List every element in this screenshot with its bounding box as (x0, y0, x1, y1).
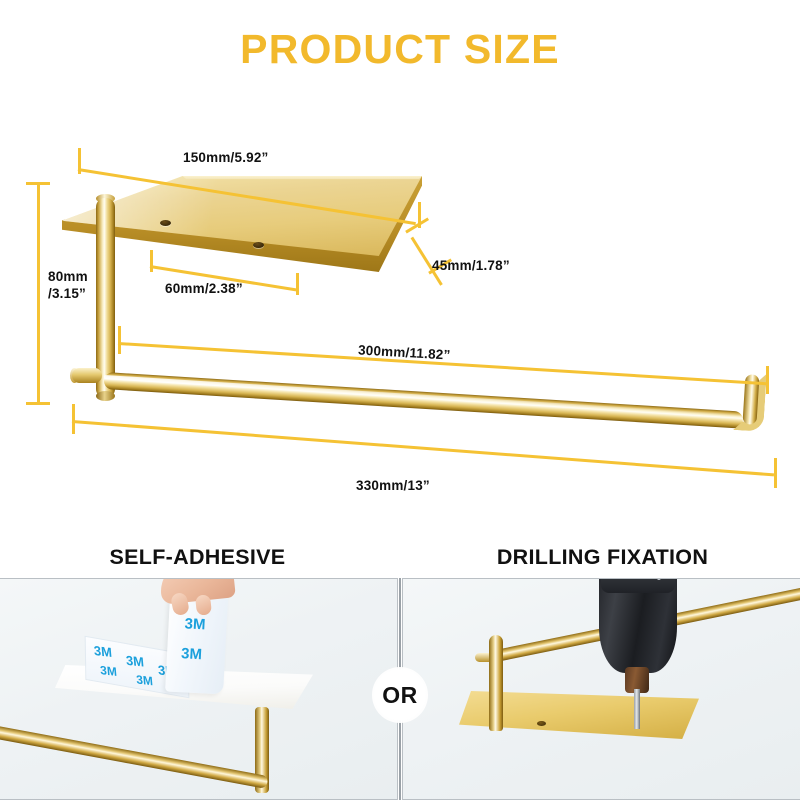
tape-3m-logo: 3M (184, 616, 206, 632)
drill-bit (634, 689, 640, 729)
screw-hole-icon (160, 220, 171, 226)
drilling-fixation-heading: DRILLING FIXATION (405, 545, 800, 570)
product-size-diagram: 150mm/5.92” 45mm/1.78” 60mm/2.38” 80mm /… (0, 0, 800, 530)
self-adhesive-heading: SELF-ADHESIVE (0, 545, 395, 570)
tape-3m-logo: 3M (100, 664, 118, 678)
or-badge: OR (372, 667, 428, 723)
vertical-post (489, 635, 503, 731)
drill-clutch-collar: 1 2 3 (601, 578, 675, 593)
post-bottom-cap (96, 391, 115, 401)
dimension-label-post-height-mm: 80mm (48, 269, 88, 284)
dimension-label-hole-spacing: 60mm/2.38” (165, 281, 243, 296)
drilling-fixation-photo: 1 2 3 (402, 578, 800, 800)
screw-hole-icon (537, 721, 546, 726)
self-adhesive-photo: 3M 3M 3M 3M 3M 3M 3M 3M (0, 578, 398, 800)
tape-3m-logo: 3M (136, 673, 154, 687)
dimension-label-post-height-in: /3.15” (48, 286, 86, 301)
tape-3m-logo: 3M (181, 646, 203, 662)
dimension-label-total-length: 330mm/13” (356, 478, 430, 493)
bar-stub (72, 368, 102, 383)
tape-3m-logo: 3M (125, 654, 144, 669)
dimension-label-plate-depth: 45mm/1.78” (432, 258, 510, 273)
towel-bar-highlight (104, 375, 743, 418)
dimension-label-plate-width: 150mm/5.92” (183, 150, 269, 165)
drill-tick-label: 3 (657, 578, 661, 582)
bracket-bar (0, 725, 268, 789)
screw-hole-icon (253, 242, 264, 248)
drill-tick-label: 1 (613, 578, 617, 581)
tape-3m-logo: 3M (93, 644, 112, 659)
